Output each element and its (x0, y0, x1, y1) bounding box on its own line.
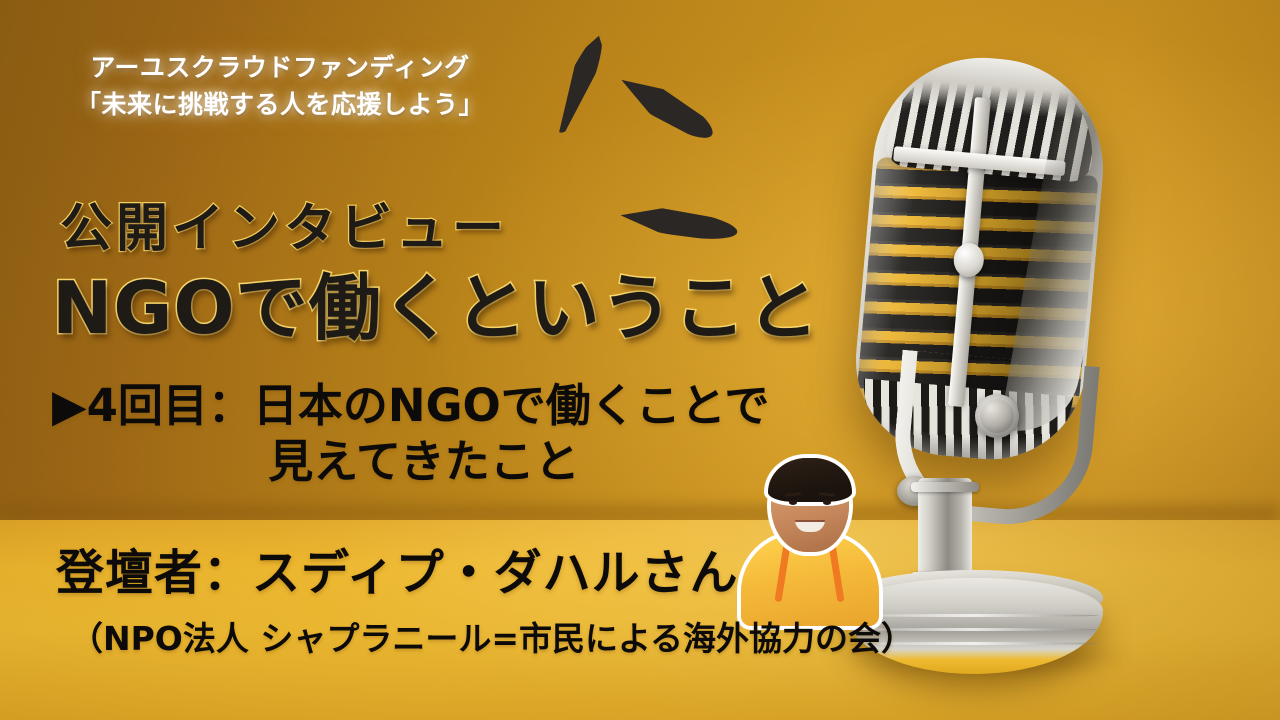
subtitle-line-2: 見えてきたこと (52, 434, 932, 490)
microphone-base-groove (849, 614, 1099, 617)
title-line-2: NGOで働くということ (52, 272, 820, 344)
lead-line-2: 「未来に挑戦する人を応援しよう」 (0, 87, 560, 124)
title-line-1: 公開インタビュー (60, 203, 508, 255)
subtitle-line-1: ▶4回目：日本のNGOで働くことで (52, 378, 932, 434)
presenter-name: 登壇者：スディプ・ダハルさん (56, 549, 739, 597)
lead-line-1: アーユスクラウドファンディング (0, 50, 560, 87)
speaker-eye (823, 500, 831, 505)
presenter-affiliation: （NPO法人 シャプラニール=市民による海外協力の会） (52, 622, 932, 655)
lead-text-block: アーユスクラウドファンディング 「未来に挑戦する人を応援しよう」 (0, 50, 560, 123)
speaker-eye (789, 500, 797, 505)
subtitle-block: ▶4回目：日本のNGOで働くことで 見えてきたこと (52, 378, 932, 490)
slide-canvas: アーユスクラウドファンディング 「未来に挑戦する人を応援しよう」 公開インタビュ… (0, 0, 1280, 720)
microphone-pivot-knob (975, 394, 1019, 438)
